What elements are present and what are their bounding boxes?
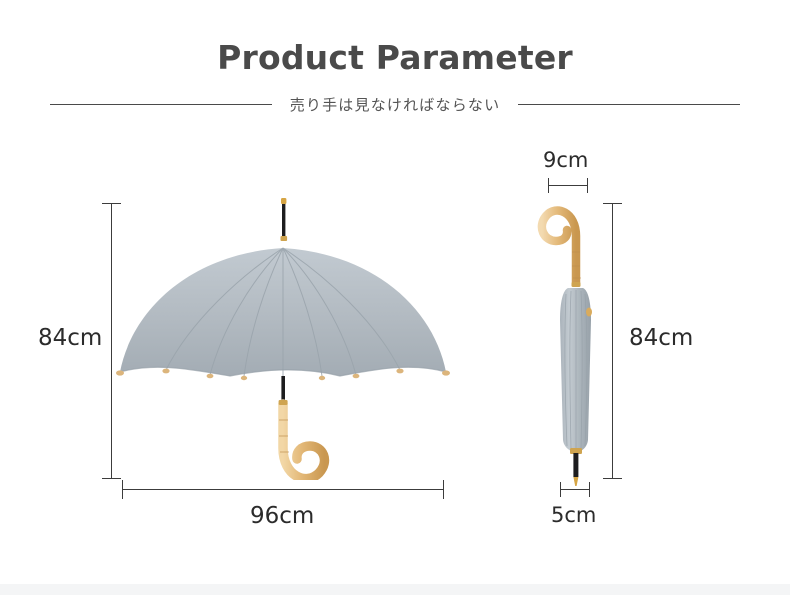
- open-umbrella-illustration: [110, 190, 460, 480]
- folded-handle-cap-right: [587, 178, 588, 193]
- umbrella-finial-icon: [281, 198, 288, 241]
- folded-umbrella-height-label: 84cm: [629, 325, 693, 351]
- folded-shaft-cap-left: [560, 482, 561, 497]
- folded-shaft-width-dimension-line: [560, 489, 590, 490]
- open-height-cap-bottom: [102, 478, 121, 479]
- folded-umbrella-handle-width-label: 9cm: [543, 148, 588, 172]
- folded-handle-width-dimension-line: [548, 185, 588, 186]
- folded-handle-cap-left: [548, 178, 549, 193]
- open-umbrella-height-dimension-line: [111, 203, 112, 478]
- open-umbrella-width-label: 96cm: [250, 503, 314, 529]
- umbrella-handle: [279, 400, 325, 479]
- folded-height-cap-top: [603, 203, 622, 204]
- subtitle-rule-left: [50, 104, 272, 105]
- subtitle-rule-right: [518, 104, 740, 105]
- product-parameter-page: Product Parameter 売り手は見なければならない: [0, 0, 790, 595]
- bottom-edge-band: [0, 584, 790, 595]
- open-umbrella-height-label: 84cm: [38, 325, 102, 351]
- page-subtitle: 売り手は見なければならない: [290, 94, 501, 115]
- folded-height-cap-bottom: [603, 478, 622, 479]
- open-width-cap-left: [122, 480, 123, 499]
- open-width-cap-right: [443, 480, 444, 499]
- folded-umbrella-shaft-width-label: 5cm: [551, 503, 596, 527]
- folded-shaft-cap-right: [589, 482, 590, 497]
- folded-umbrella-strap-tab: [586, 308, 592, 317]
- folded-umbrella-handle: [542, 210, 581, 287]
- page-title: Product Parameter: [0, 38, 790, 77]
- folded-umbrella-illustration: [530, 190, 640, 490]
- subtitle-row: 売り手は見なければならない: [0, 92, 790, 116]
- open-umbrella-width-dimension-line: [122, 489, 444, 490]
- folded-umbrella-height-dimension-line: [612, 203, 613, 478]
- folded-umbrella-ferrule: [573, 453, 578, 477]
- open-height-cap-top: [102, 203, 121, 204]
- folded-umbrella-tip-icon: [573, 477, 578, 486]
